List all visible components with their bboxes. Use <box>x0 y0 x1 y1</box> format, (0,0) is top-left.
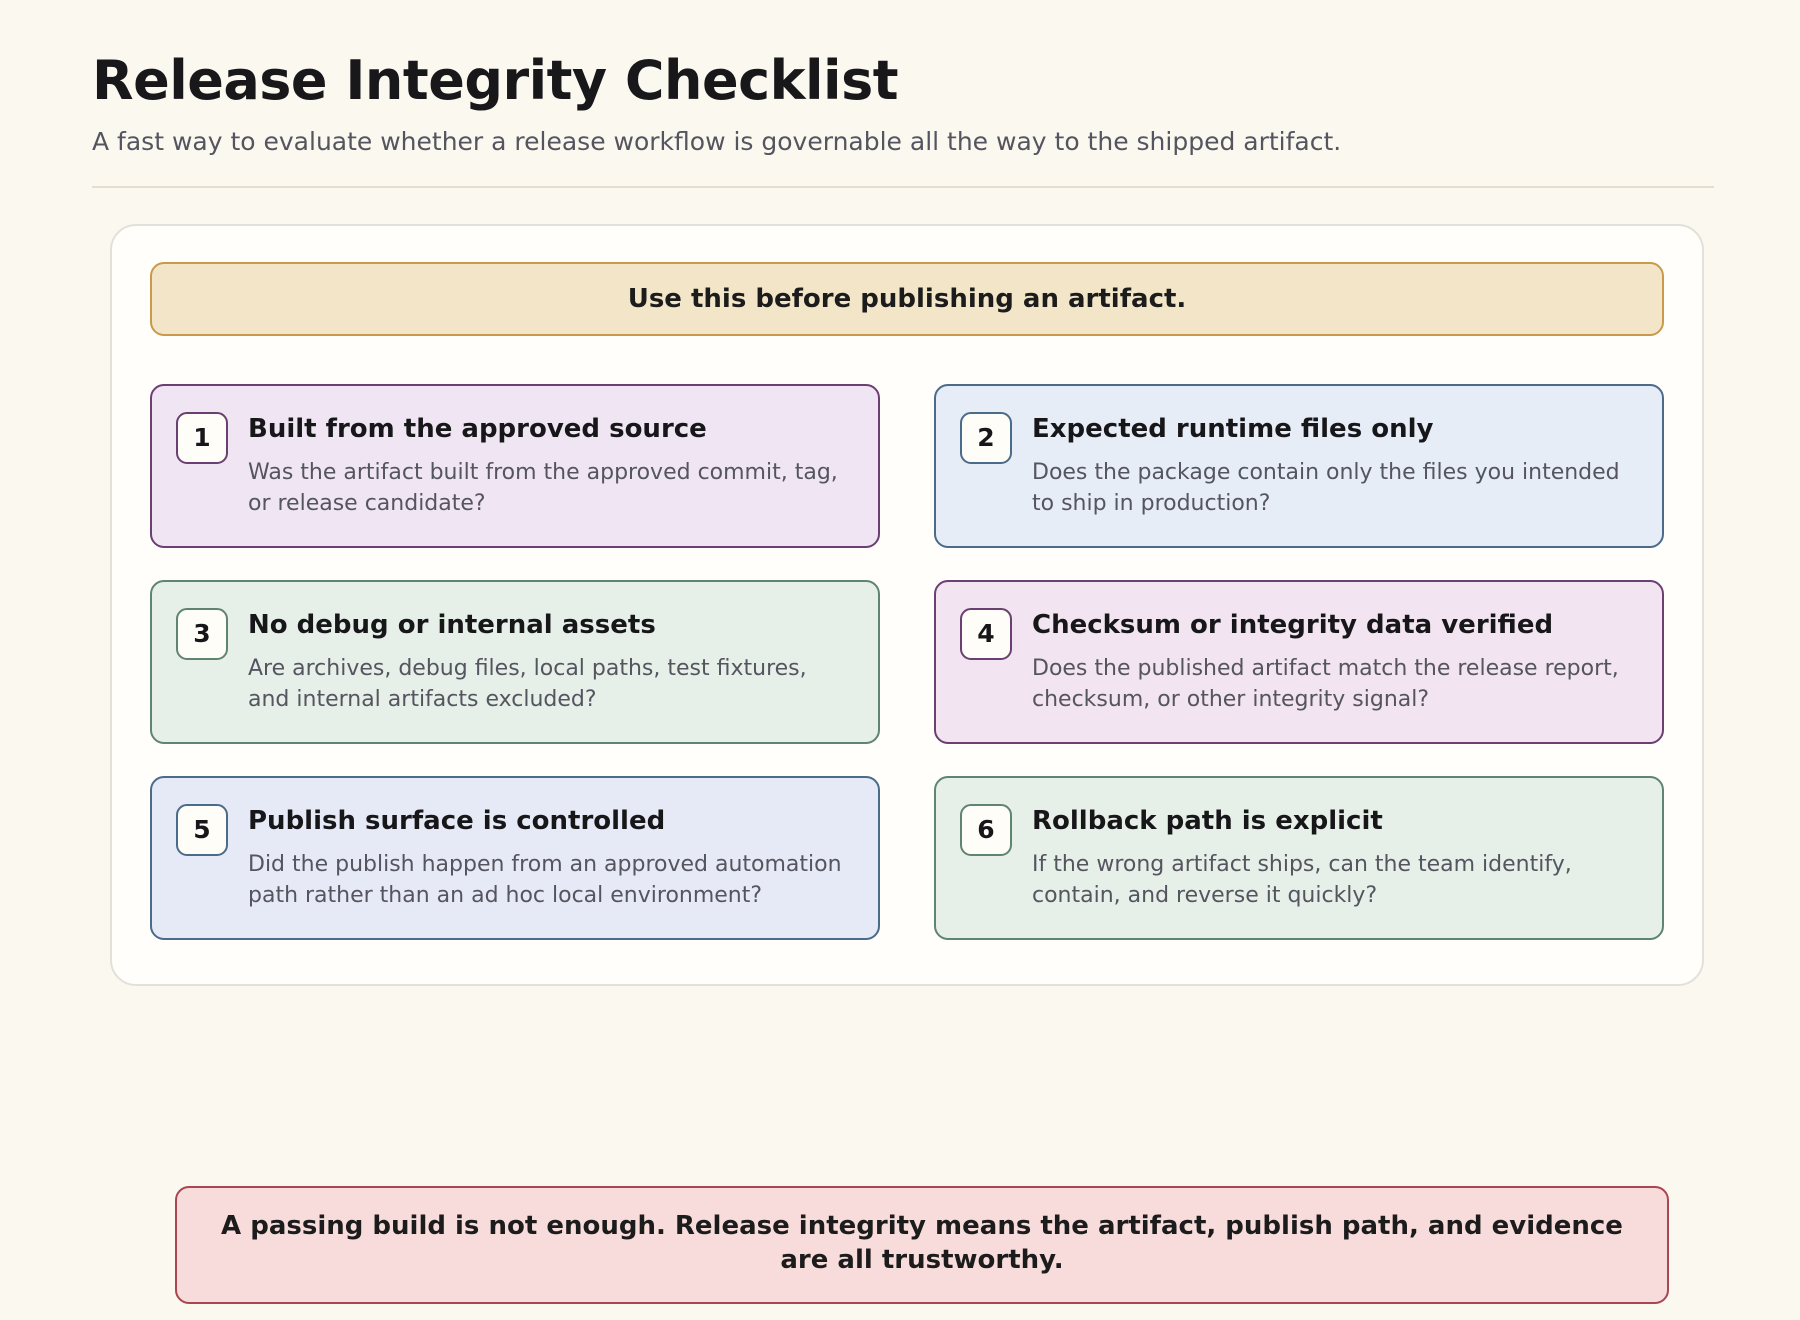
item-description: Are archives, debug files, local paths, … <box>248 654 852 715</box>
checklist-page: Release Integrity Checklist A fast way t… <box>0 0 1800 1320</box>
item-content: Publish surface is controlled Did the pu… <box>248 802 852 911</box>
checklist-item-5[interactable]: 5 Publish surface is controlled Did the … <box>150 776 880 940</box>
item-number-badge: 6 <box>960 804 1012 856</box>
callout-banner: Use this before publishing an artifact. <box>150 262 1664 336</box>
item-description: If the wrong artifact ships, can the tea… <box>1032 850 1636 911</box>
checklist-item-6[interactable]: 6 Rollback path is explicit If the wrong… <box>934 776 1664 940</box>
item-title: Expected runtime files only <box>1032 414 1636 445</box>
item-description: Did the publish happen from an approved … <box>248 850 852 911</box>
checklist-panel: Use this before publishing an artifact. … <box>110 224 1704 986</box>
item-content: Expected runtime files only Does the pac… <box>1032 410 1636 519</box>
item-title: Rollback path is explicit <box>1032 806 1636 837</box>
footer-banner: A passing build is not enough. Release i… <box>175 1186 1669 1304</box>
item-description: Does the published artifact match the re… <box>1032 654 1636 715</box>
item-title: Publish surface is controlled <box>248 806 852 837</box>
page-header: Release Integrity Checklist A fast way t… <box>92 52 1714 188</box>
header-divider <box>92 186 1714 188</box>
item-content: No debug or internal assets Are archives… <box>248 606 852 715</box>
item-number-badge: 3 <box>176 608 228 660</box>
callout-text: Use this before publishing an artifact. <box>628 284 1187 314</box>
item-content: Checksum or integrity data verified Does… <box>1032 606 1636 715</box>
item-content: Rollback path is explicit If the wrong a… <box>1032 802 1636 911</box>
page-title: Release Integrity Checklist <box>92 52 1714 110</box>
item-content: Built from the approved source Was the a… <box>248 410 852 519</box>
item-number-badge: 4 <box>960 608 1012 660</box>
checklist-item-1[interactable]: 1 Built from the approved source Was the… <box>150 384 880 548</box>
checklist-item-4[interactable]: 4 Checksum or integrity data verified Do… <box>934 580 1664 744</box>
footer-text: A passing build is not enough. Release i… <box>217 1210 1627 1278</box>
item-title: No debug or internal assets <box>248 610 852 641</box>
checklist-item-3[interactable]: 3 No debug or internal assets Are archiv… <box>150 580 880 744</box>
item-title: Built from the approved source <box>248 414 852 445</box>
checklist-grid: 1 Built from the approved source Was the… <box>150 384 1664 940</box>
item-description: Was the artifact built from the approved… <box>248 458 852 519</box>
item-number-badge: 2 <box>960 412 1012 464</box>
item-title: Checksum or integrity data verified <box>1032 610 1636 641</box>
item-description: Does the package contain only the files … <box>1032 458 1636 519</box>
item-number-badge: 1 <box>176 412 228 464</box>
page-subtitle: A fast way to evaluate whether a release… <box>92 126 1714 157</box>
item-number-badge: 5 <box>176 804 228 856</box>
checklist-item-2[interactable]: 2 Expected runtime files only Does the p… <box>934 384 1664 548</box>
